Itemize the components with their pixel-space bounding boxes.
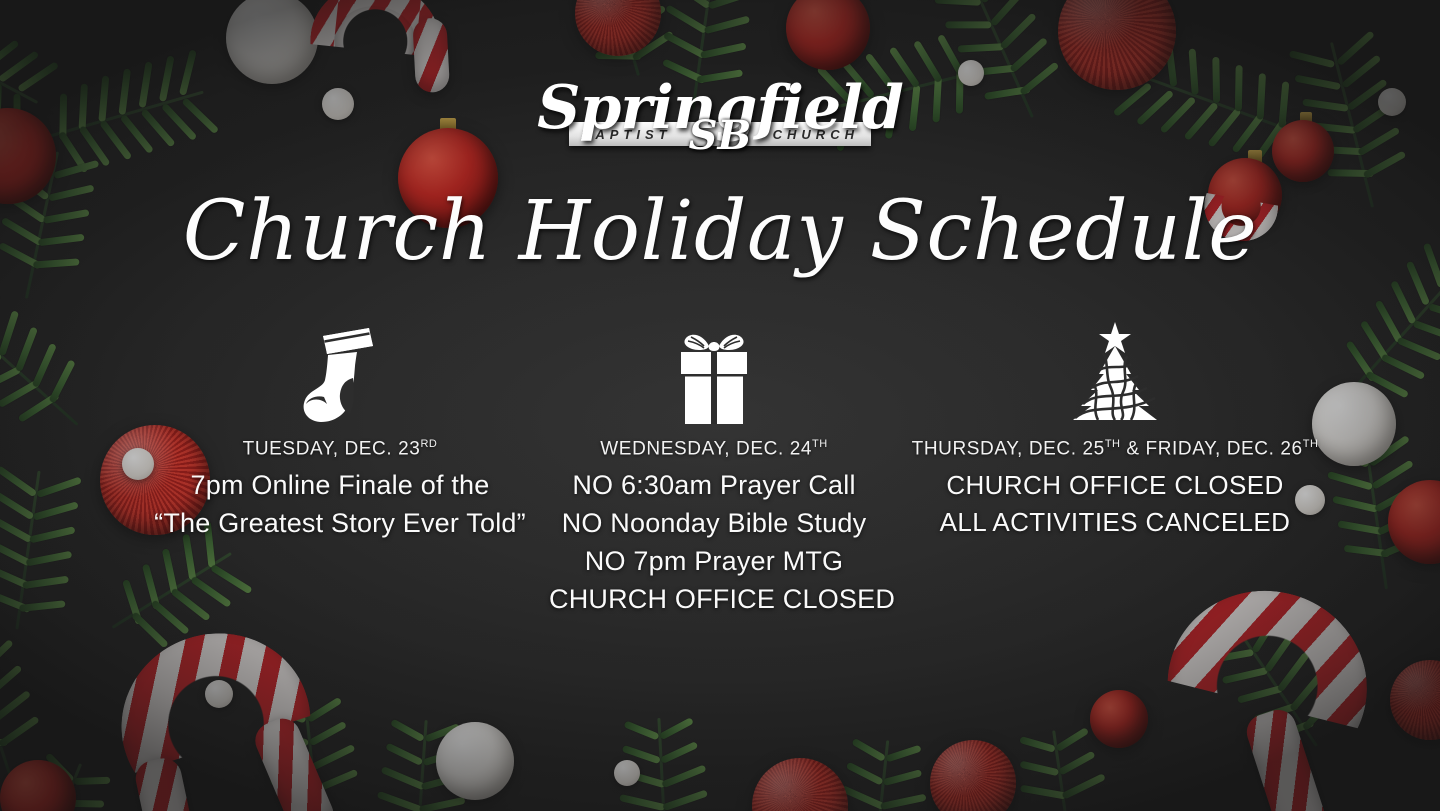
schedule-column-tuesday: TUESDAY, DEC. 23RD 7pm Online Finale of … — [150, 318, 530, 543]
schedule-line: CHURCH OFFICE CLOSED — [549, 581, 879, 619]
schedule-date-thursday-friday: THURSDAY, DEC. 25TH & FRIDAY, DEC. 26TH — [900, 438, 1330, 460]
springfield-baptist-church-logo: Springfield BAPTIST CHURCH SB — [0, 78, 1440, 146]
date-ordinal-suffix: TH — [812, 438, 828, 450]
schedule-date-tuesday: TUESDAY, DEC. 23RD — [150, 438, 530, 460]
schedule-line: CHURCH OFFICE CLOSED — [900, 467, 1330, 503]
date-ordinal-suffix: RD — [420, 438, 437, 450]
schedule-column-wednesday: WEDNESDAY, DEC. 24TH NO 6:30am Prayer Ca… — [549, 318, 879, 619]
schedule-line: 7pm Online Finale of the — [150, 467, 530, 505]
schedule-lines-thursday-friday: CHURCH OFFICE CLOSED ALL ACTIVITIES CANC… — [900, 467, 1330, 540]
gift-box-icon — [549, 318, 879, 426]
date-ordinal-suffix-secondary: TH — [1303, 438, 1319, 450]
schedule-columns: TUESDAY, DEC. 23RD 7pm Online Finale of … — [150, 318, 1330, 619]
logo-monogram: SB — [689, 112, 752, 159]
schedule-line: NO 6:30am Prayer Call — [549, 467, 879, 505]
date-text: THURSDAY, DEC. 25 — [912, 438, 1105, 459]
date-text: WEDNESDAY, DEC. 24 — [600, 438, 812, 459]
holiday-schedule-flyer: Springfield BAPTIST CHURCH SB Church Hol… — [0, 0, 1440, 811]
date-ordinal-suffix: TH — [1105, 438, 1121, 450]
page-title: Church Holiday Schedule — [0, 186, 1440, 278]
schedule-line: NO 7pm Prayer MTG — [549, 543, 879, 581]
date-text: TUESDAY, DEC. 23 — [243, 438, 421, 459]
christmas-stocking-icon — [150, 318, 530, 426]
schedule-line: “The Greatest Story Ever Told” — [150, 505, 530, 543]
date-text-secondary: & FRIDAY, DEC. 26 — [1121, 438, 1303, 459]
schedule-line: NO Noonday Bible Study — [549, 505, 879, 543]
schedule-date-wednesday: WEDNESDAY, DEC. 24TH — [549, 438, 879, 460]
schedule-lines-wednesday: NO 6:30am Prayer Call NO Noonday Bible S… — [549, 467, 879, 618]
schedule-lines-tuesday: 7pm Online Finale of the “The Greatest S… — [150, 467, 530, 543]
schedule-column-thursday-friday: THURSDAY, DEC. 25TH & FRIDAY, DEC. 26TH … — [900, 318, 1330, 540]
christmas-tree-icon — [900, 318, 1330, 426]
schedule-line: ALL ACTIVITIES CANCELED — [900, 504, 1330, 540]
